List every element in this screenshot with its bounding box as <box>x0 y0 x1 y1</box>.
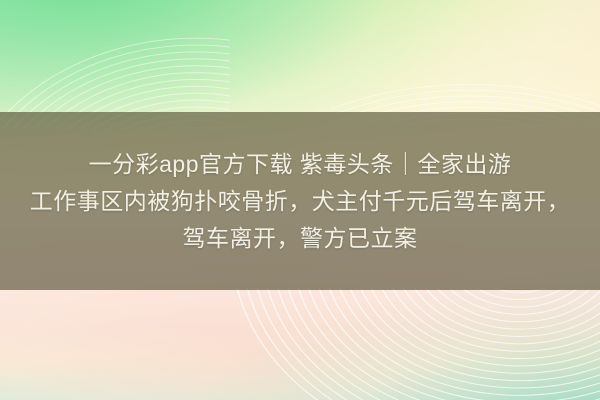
headline-line-2: 工作事区内被狗扑咬骨折，犬主付千元后驾车离开， <box>30 183 571 220</box>
headline-line-2-wrapper: 工作事区内被狗扑咬骨折，犬主付千元后驾车离开， <box>0 183 600 220</box>
headline-line-3: 驾车离开，警方已立案 <box>183 220 418 257</box>
headline-band: 一分彩app官方下载 紫毒头条｜全家出游 工作事区内被狗扑咬骨折，犬主付千元后驾… <box>0 112 600 290</box>
headline-line-1: 一分彩app官方下载 紫毒头条｜全家出游 <box>89 146 512 183</box>
promo-banner: 一分彩app官方下载 紫毒头条｜全家出游 工作事区内被狗扑咬骨折，犬主付千元后驾… <box>0 0 600 400</box>
